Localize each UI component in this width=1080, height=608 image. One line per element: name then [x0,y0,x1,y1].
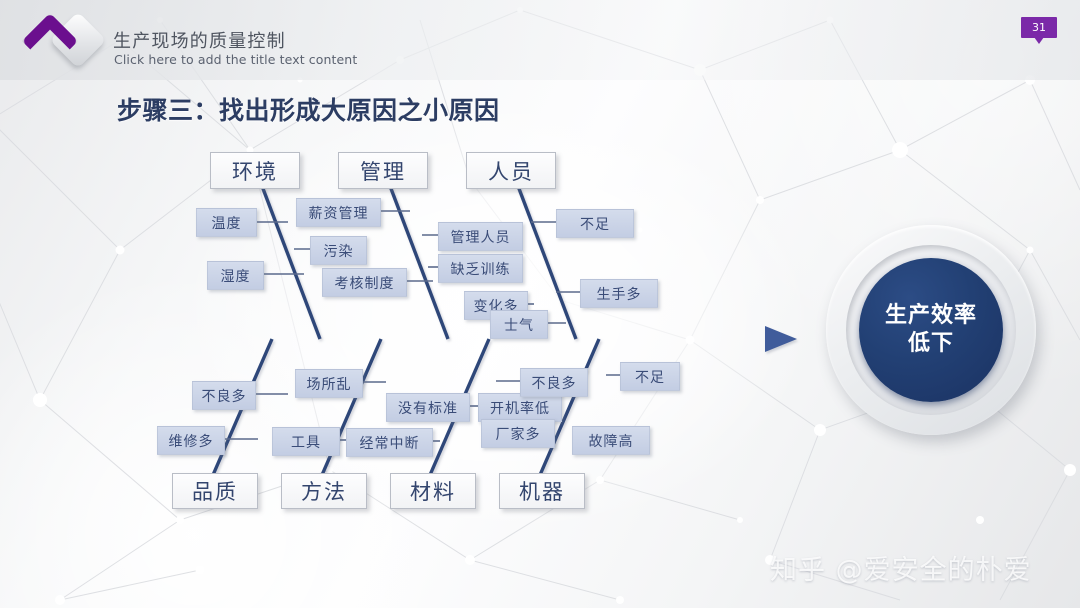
category-label: 人员 [488,156,534,186]
cause-label: 缺乏训练 [451,259,511,279]
cause-label: 维修多 [169,431,214,451]
cause-label: 温度 [212,213,242,233]
cause-label: 生手多 [597,284,642,304]
cause-box-high-failure-rate[interactable]: 故障高 [572,426,650,455]
cause-box-many-novices[interactable]: 生手多 [580,279,658,308]
cause-label: 开机率低 [490,398,550,418]
cause-box-temperature[interactable]: 温度 [196,208,257,237]
slide-canvas: 生产现场的质量控制 Click here to add the title te… [0,0,1080,608]
cause-label: 不足 [635,367,665,387]
watermark: 知乎 @爱安全的朴爱 [770,548,1032,587]
cause-label: 考核制度 [335,273,395,293]
cause-label: 管理人员 [451,227,511,247]
cause-label: 污染 [324,241,354,261]
effect-circle[interactable]: 生产效率 低下 [826,225,1036,435]
cause-box-lack-of-training[interactable]: 缺乏训练 [438,254,523,283]
cause-label: 经常中断 [360,433,420,453]
cause-box-morale[interactable]: 士气 [490,310,548,339]
cause-box-many-defects-quality[interactable]: 不良多 [192,381,256,410]
cause-box-appraisal-system[interactable]: 考核制度 [322,268,407,297]
category-label: 材料 [410,476,456,506]
category-label: 管理 [360,156,406,186]
category-label: 品质 [192,476,238,506]
cause-box-salary-management[interactable]: 薪资管理 [296,198,381,227]
cause-label: 厂家多 [496,424,541,444]
cause-box-many-repairs[interactable]: 维修多 [157,426,225,455]
category-box-personnel[interactable]: 人员 [466,152,556,189]
cause-box-many-vendors[interactable]: 厂家多 [481,419,555,448]
cause-box-humidity[interactable]: 湿度 [207,261,264,290]
category-label: 环境 [232,156,278,186]
cause-label: 士气 [504,315,534,335]
cause-box-low-uptime[interactable]: 开机率低 [478,393,562,422]
cause-label: 不足 [580,214,610,234]
category-label: 方法 [301,476,347,506]
category-label: 机器 [519,476,565,506]
category-box-management[interactable]: 管理 [338,152,428,189]
cause-label: 场所乱 [307,374,352,394]
cause-box-pollution[interactable]: 污染 [310,236,367,265]
effect-disc: 生产效率 低下 [859,258,1003,402]
category-box-material[interactable]: 材料 [390,473,476,509]
cause-box-tools[interactable]: 工具 [272,427,340,456]
cause-box-no-standard[interactable]: 没有标准 [386,393,470,422]
cause-label: 薪资管理 [309,203,369,223]
category-box-environment[interactable]: 环境 [210,152,300,189]
category-box-method[interactable]: 方法 [281,473,367,509]
cause-label: 不良多 [532,373,577,393]
cause-box-messy-workplace[interactable]: 场所乱 [295,369,363,398]
cause-label: 工具 [291,432,321,452]
cause-box-managers[interactable]: 管理人员 [438,222,523,251]
cause-label: 没有标准 [398,398,458,418]
effect-label-line1: 生产效率 [885,302,977,330]
cause-label: 不良多 [202,386,247,406]
cause-box-many-defects-machine[interactable]: 不良多 [520,368,588,397]
effect-label-line2: 低下 [908,330,954,358]
category-box-quality[interactable]: 品质 [172,473,258,509]
cause-label: 湿度 [221,266,251,286]
cause-box-insufficient-staff[interactable]: 不足 [556,209,634,238]
cause-label: 故障高 [589,431,634,451]
cause-box-frequent-interruption[interactable]: 经常中断 [346,428,433,457]
category-box-machine[interactable]: 机器 [499,473,585,509]
cause-box-insufficient-machines[interactable]: 不足 [620,362,680,391]
